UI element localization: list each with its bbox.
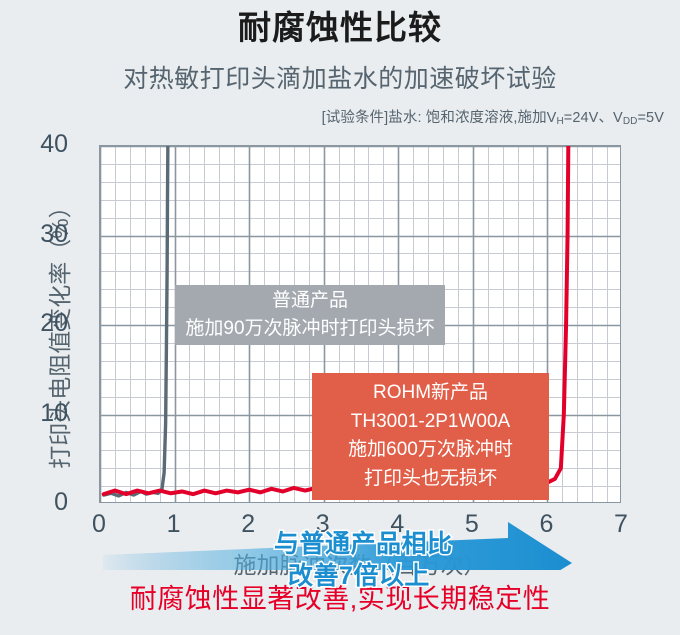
test-conditions: [试验条件]盐水: 饱和浓度溶液,施加VH=24V、VDD=5V <box>322 106 664 127</box>
arrow-caption-line2: 改善7倍以上 <box>274 560 574 592</box>
conditions-sub-h: H <box>556 116 563 127</box>
x-tick-label: 2 <box>228 512 268 537</box>
arrow-caption: 与普通产品相比 改善7倍以上 <box>274 528 574 592</box>
callout-standard-line1: 普通产品 <box>175 287 445 315</box>
callout-rohm-line2: TH3001-2P1W00A <box>312 408 549 437</box>
callout-rohm-product: ROHM新产品 TH3001-2P1W00A 施加600万次脉冲时 打印头也无损… <box>312 373 549 500</box>
callout-standard-product: 普通产品 施加90万次脉冲时打印头损坏 <box>175 285 445 345</box>
callout-standard-line2: 施加90万次脉冲时打印头损坏 <box>175 315 445 343</box>
callout-rohm-line4: 打印头也无损坏 <box>312 465 549 494</box>
x-tick-label: 1 <box>154 512 194 537</box>
conditions-sub-dd: DD <box>623 116 638 127</box>
conditions-text-pre: [试验条件]盐水: 饱和浓度溶液,施加V <box>322 110 557 126</box>
conditions-text-post: =5V <box>637 110 664 126</box>
y-tick-label: 20 <box>0 311 68 336</box>
chart-page: 耐腐蚀性比较 对热敏打印头滴加盐水的加速破坏试验 [试验条件]盐水: 饱和浓度溶… <box>0 0 680 635</box>
y-tick-label: 10 <box>0 401 68 426</box>
page-subtitle: 对热敏打印头滴加盐水的加速破坏试验 <box>0 62 680 96</box>
page-title: 耐腐蚀性比较 <box>0 6 680 50</box>
y-tick-label: 40 <box>0 132 68 157</box>
y-tick-label: 0 <box>0 490 68 515</box>
conditions-text-mid: =24V、V <box>564 110 623 126</box>
chart-container: 打印头电阻值变化率（%） 施加脉冲次数（百万次） 010203040 01234… <box>0 130 680 570</box>
x-tick-label: 0 <box>79 512 119 537</box>
arrow-caption-line1: 与普通产品相比 <box>274 528 574 560</box>
callout-rohm-line3: 施加600万次脉冲时 <box>312 436 549 465</box>
y-tick-label: 30 <box>0 222 68 247</box>
callout-rohm-line1: ROHM新产品 <box>312 379 549 408</box>
x-tick-label: 7 <box>601 512 641 537</box>
series-line <box>104 146 168 496</box>
